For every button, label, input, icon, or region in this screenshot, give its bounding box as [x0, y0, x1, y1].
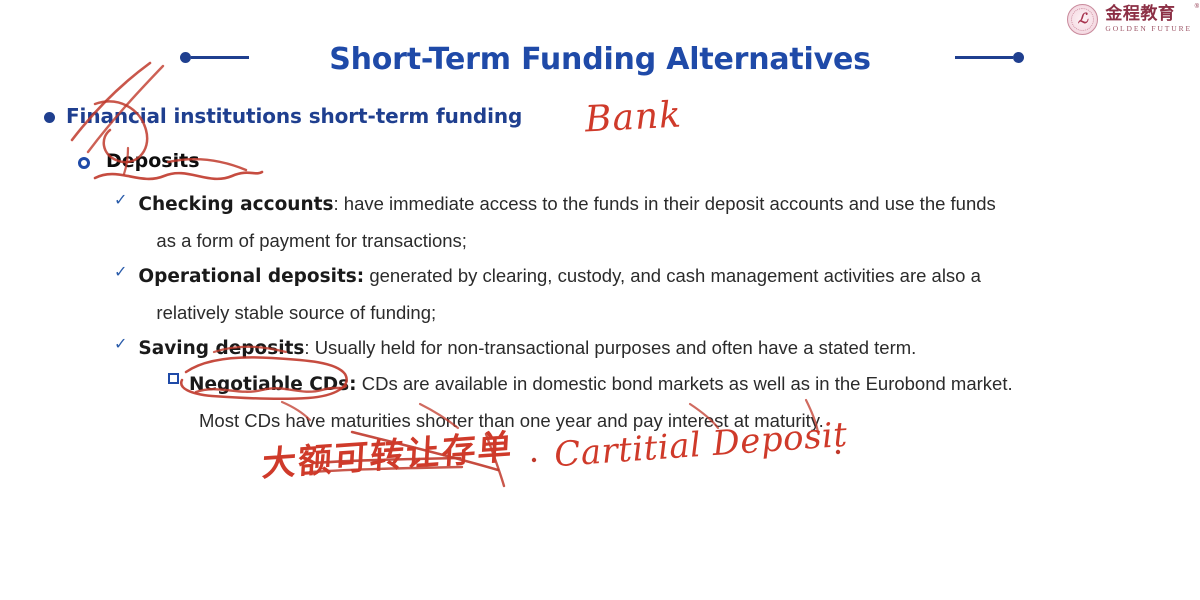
bullet-level3-rest: : have immediate access to the funds in …: [334, 193, 996, 214]
bullet-level2-label: Deposits: [106, 150, 200, 172]
decoration-dot-icon: [1013, 52, 1024, 63]
bullet-level3-saving-deposits: ✓ Saving deposits: Usually held for non-…: [114, 330, 1154, 367]
bullet-ring-icon: [78, 157, 90, 169]
ink-stroke-underline-1: [314, 458, 460, 463]
bullet-level3-text: Saving deposits: Usually held for non-tr…: [138, 330, 916, 367]
ink-dot-2: [836, 450, 840, 454]
bullet-level4-text: Negotiable CDs: CDs are available in dom…: [189, 366, 1013, 439]
bullet-level4-lead: Negotiable CDs:: [189, 374, 357, 395]
bullet-level4-negotiable-cds: Negotiable CDs: CDs are available in dom…: [168, 366, 1158, 439]
ink-dot-1: [532, 458, 536, 462]
decoration-line-icon: [191, 56, 249, 59]
bullet-level4-rest: CDs are available in domestic bond marke…: [357, 373, 1013, 394]
bullet-level3-continuation: relatively stable source of funding;: [156, 295, 981, 331]
logo-seal-glyph: ℒ: [1068, 5, 1097, 34]
page-title: Short-Term Funding Alternatives: [329, 42, 871, 77]
bullet-level3-continuation: as a form of payment for transactions;: [156, 223, 995, 259]
ink-stroke-flourish-2: [486, 434, 504, 486]
bullet-level3-rest: generated by clearing, custody, and cash…: [364, 265, 981, 286]
bullet-level4-continuation: Most CDs have maturities shorter than on…: [199, 403, 1013, 439]
decoration-line-icon: [955, 56, 1013, 59]
bullet-level3-lead: Saving deposits: [138, 338, 304, 359]
ink-annotation-bank: Bank: [584, 94, 683, 140]
decoration-dot-icon: [180, 52, 191, 63]
ink-stroke-underline-2: [310, 467, 462, 472]
bullet-dot-icon: [44, 112, 55, 123]
ink-stroke-wave-deposits: [95, 172, 262, 179]
bullet-level3-lead: Checking accounts: [138, 194, 333, 215]
logo-chinese-name: 金程教育: [1105, 6, 1192, 23]
title-decoration-left: [180, 50, 249, 64]
bullet-level3-operational-deposits: ✓ Operational deposits: generated by cle…: [114, 258, 1154, 331]
logo-english-name: GOLDEN FUTURE: [1105, 25, 1192, 33]
bullet-level3-checking-accounts: ✓ Checking accounts: have immediate acce…: [114, 186, 1154, 259]
checkmark-icon: ✓: [114, 192, 127, 208]
checkmark-icon: ✓: [114, 264, 127, 280]
logo-wordmark: 金程教育 GOLDEN FUTURE ®: [1105, 6, 1192, 33]
bullet-level3-text: Checking accounts: have immediate access…: [138, 186, 995, 259]
brand-logo: ℒ 金程教育 GOLDEN FUTURE ®: [1067, 4, 1192, 35]
bullet-level3-lead: Operational deposits:: [138, 266, 364, 287]
bullet-level3-text: Operational deposits: generated by clear…: [138, 258, 981, 331]
slide-canvas: ℒ 金程教育 GOLDEN FUTURE ® Short-Term Fundin…: [0, 0, 1200, 600]
bullet-level3-rest: : Usually held for non-transactional pur…: [304, 337, 916, 358]
logo-seal-icon: ℒ: [1067, 4, 1098, 35]
title-decoration-right: [955, 50, 1024, 64]
bullet-level1-label: Financial institutions short-term fundin…: [66, 104, 522, 128]
bullet-square-icon: [168, 373, 179, 384]
checkmark-icon: ✓: [114, 336, 127, 352]
bullet-level2-deposits: Deposits: [78, 150, 200, 172]
bullet-level1-financial-institutions: Financial institutions short-term fundin…: [44, 104, 522, 128]
registered-mark-icon: ®: [1195, 4, 1199, 10]
